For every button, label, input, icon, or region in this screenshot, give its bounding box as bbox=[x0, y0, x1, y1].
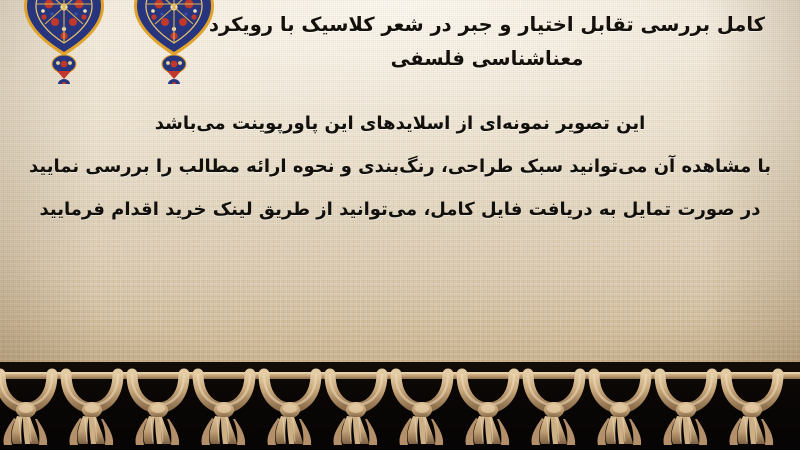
woven-tassel-fringe bbox=[0, 330, 800, 450]
body-line-2: با مشاهده آن می‌توانید سبک طراحی، رنگ‌بن… bbox=[14, 145, 786, 188]
slide-title-line-2: معناشناسی فلسفی bbox=[192, 42, 782, 76]
slide-body-text: این تصویر نمونه‌ای از اسلایدهای این پاور… bbox=[14, 102, 786, 231]
body-line-1: این تصویر نمونه‌ای از اسلایدهای این پاور… bbox=[14, 102, 786, 145]
slide-title-line-1: کامل بررسی تقابل اختیار و جبر در شعر کلا… bbox=[192, 8, 782, 42]
slide-canvas: کامل بررسی تقابل اختیار و جبر در شعر کلا… bbox=[0, 0, 800, 450]
slide-title: کامل بررسی تقابل اختیار و جبر در شعر کلا… bbox=[192, 8, 782, 76]
body-line-3: در صورت تمایل به دریافت فایل کامل، می‌تو… bbox=[14, 188, 786, 231]
